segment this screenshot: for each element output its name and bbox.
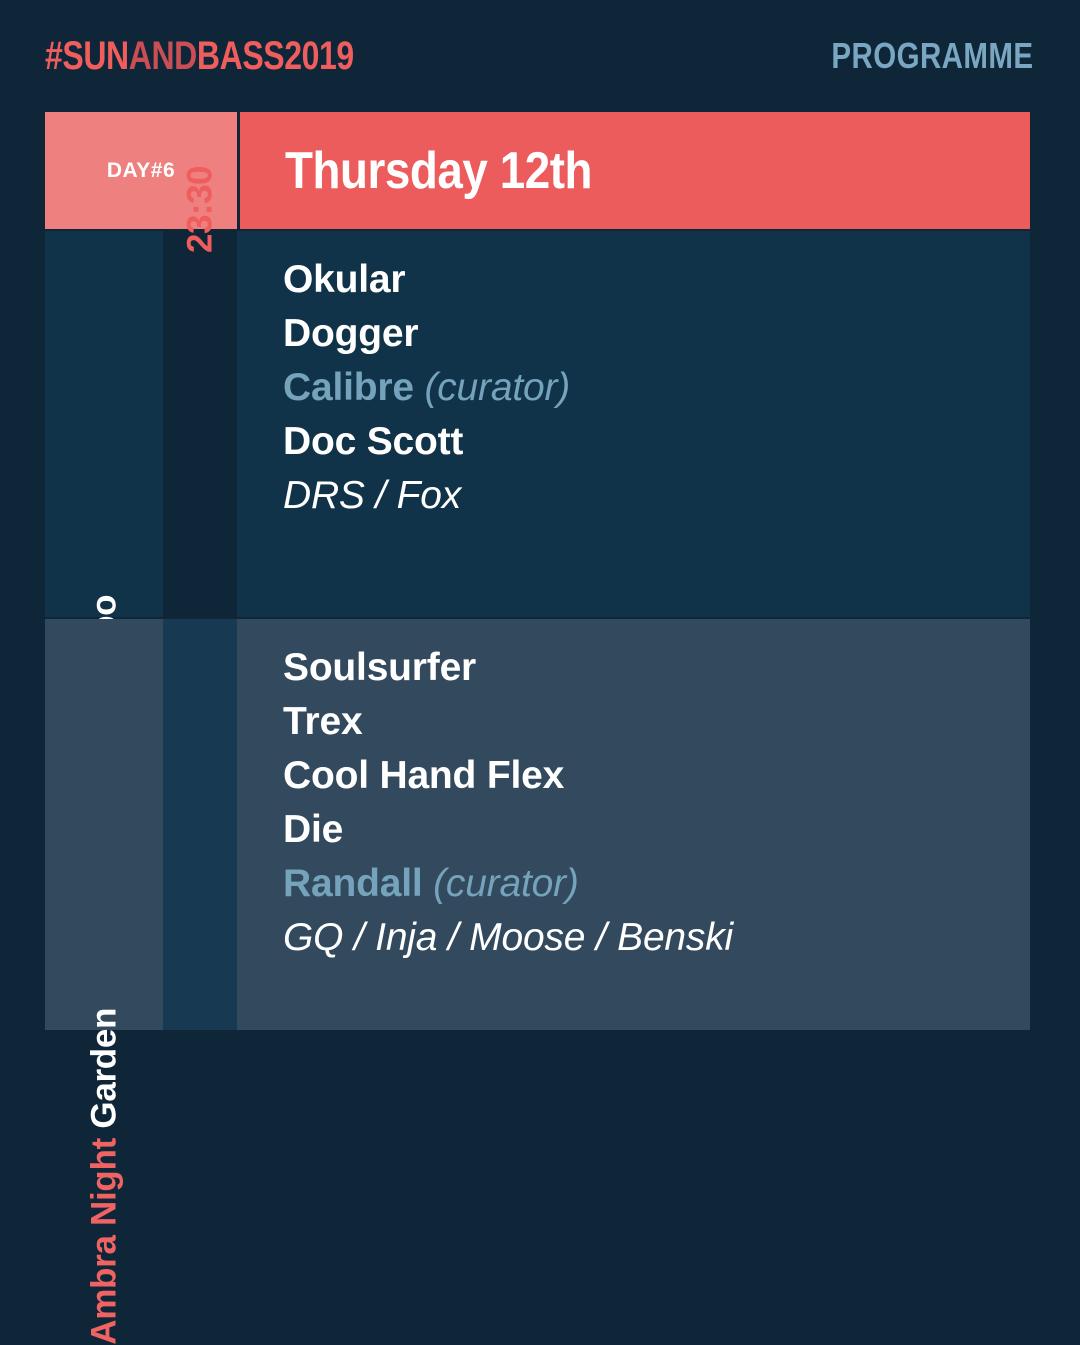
lineup-item-mc: GQ / Inja / Moose / Benski: [283, 911, 1010, 965]
lineup-list: Okular Dogger Calibre (curator) Doc Scot…: [283, 253, 1010, 523]
lineup-item-curator: Randall (curator): [283, 857, 1010, 911]
artist-name: Die: [283, 808, 343, 851]
session-row: Ambra Night Gazebo 23:30 Okular Dogger C…: [45, 231, 1030, 617]
section-label: PROGRAMME: [831, 38, 1033, 74]
lineup-item: Trex: [283, 695, 1010, 749]
artist-name: Cool Hand Flex: [283, 754, 564, 797]
day-title-cell: Thursday 12th: [240, 112, 1030, 229]
lineup-item: Cool Hand Flex: [283, 749, 1010, 803]
schedule-grid: DAY#6 Thursday 12th Ambra Night Gazebo 2…: [45, 112, 1030, 1030]
mc-names: DRS / Fox: [283, 474, 461, 517]
venue-label-name: Garden: [85, 1008, 124, 1129]
lineup-item-curator: Calibre (curator): [283, 361, 1010, 415]
venue-column: Ambra Night Gazebo: [45, 231, 163, 617]
artist-name: Doc Scott: [283, 420, 463, 463]
lineup-column: Okular Dogger Calibre (curator) Doc Scot…: [237, 231, 1030, 617]
lineup-column: Soulsurfer Trex Cool Hand Flex Die Randa…: [237, 619, 1030, 1030]
lineup-item: Doc Scott: [283, 415, 1010, 469]
lineup-item: Dogger: [283, 307, 1010, 361]
artist-name: Trex: [283, 700, 362, 743]
artist-role: (curator): [424, 366, 570, 409]
artist-name: Calibre: [283, 366, 414, 409]
mc-names: GQ / Inja / Moose / Benski: [283, 916, 733, 959]
artist-name: Dogger: [283, 312, 418, 355]
time-column: 23:30: [163, 231, 237, 617]
artist-name: Soulsurfer: [283, 646, 476, 689]
lineup-item-mc: DRS / Fox: [283, 469, 1010, 523]
top-bar: #SUNANDBASS2019 PROGRAMME: [0, 0, 1080, 110]
programme-poster: #SUNANDBASS2019 PROGRAMME DAY#6 Thursday…: [0, 0, 1080, 1080]
time-column: [163, 619, 237, 1030]
venue-label-prefix: Ambra Night: [85, 1138, 124, 1345]
artist-name: Randall: [283, 862, 422, 905]
venue-label: Ambra Night Garden: [87, 1008, 122, 1345]
lineup-item: Soulsurfer: [283, 641, 1010, 695]
session-time: 23:30: [183, 166, 218, 253]
lineup-list: Soulsurfer Trex Cool Hand Flex Die Randa…: [283, 641, 1010, 965]
lineup-item: Die: [283, 803, 1010, 857]
lineup-item: Okular: [283, 253, 1010, 307]
session-row: Ambra Night Garden Soulsurfer Trex Cool …: [45, 619, 1030, 1030]
artist-name: Okular: [283, 258, 405, 301]
venue-label-suffix: [85, 1129, 124, 1138]
brand-part-sun: #SUN: [45, 34, 129, 78]
day-title: Thursday 12th: [285, 141, 592, 201]
brand-part-and: AND: [129, 34, 197, 78]
brand-part-bass: BASS2019: [197, 34, 354, 78]
venue-column: Ambra Night Garden: [45, 619, 163, 1030]
brand-hashtag: #SUNANDBASS2019: [45, 36, 354, 76]
artist-role: (curator): [433, 862, 579, 905]
